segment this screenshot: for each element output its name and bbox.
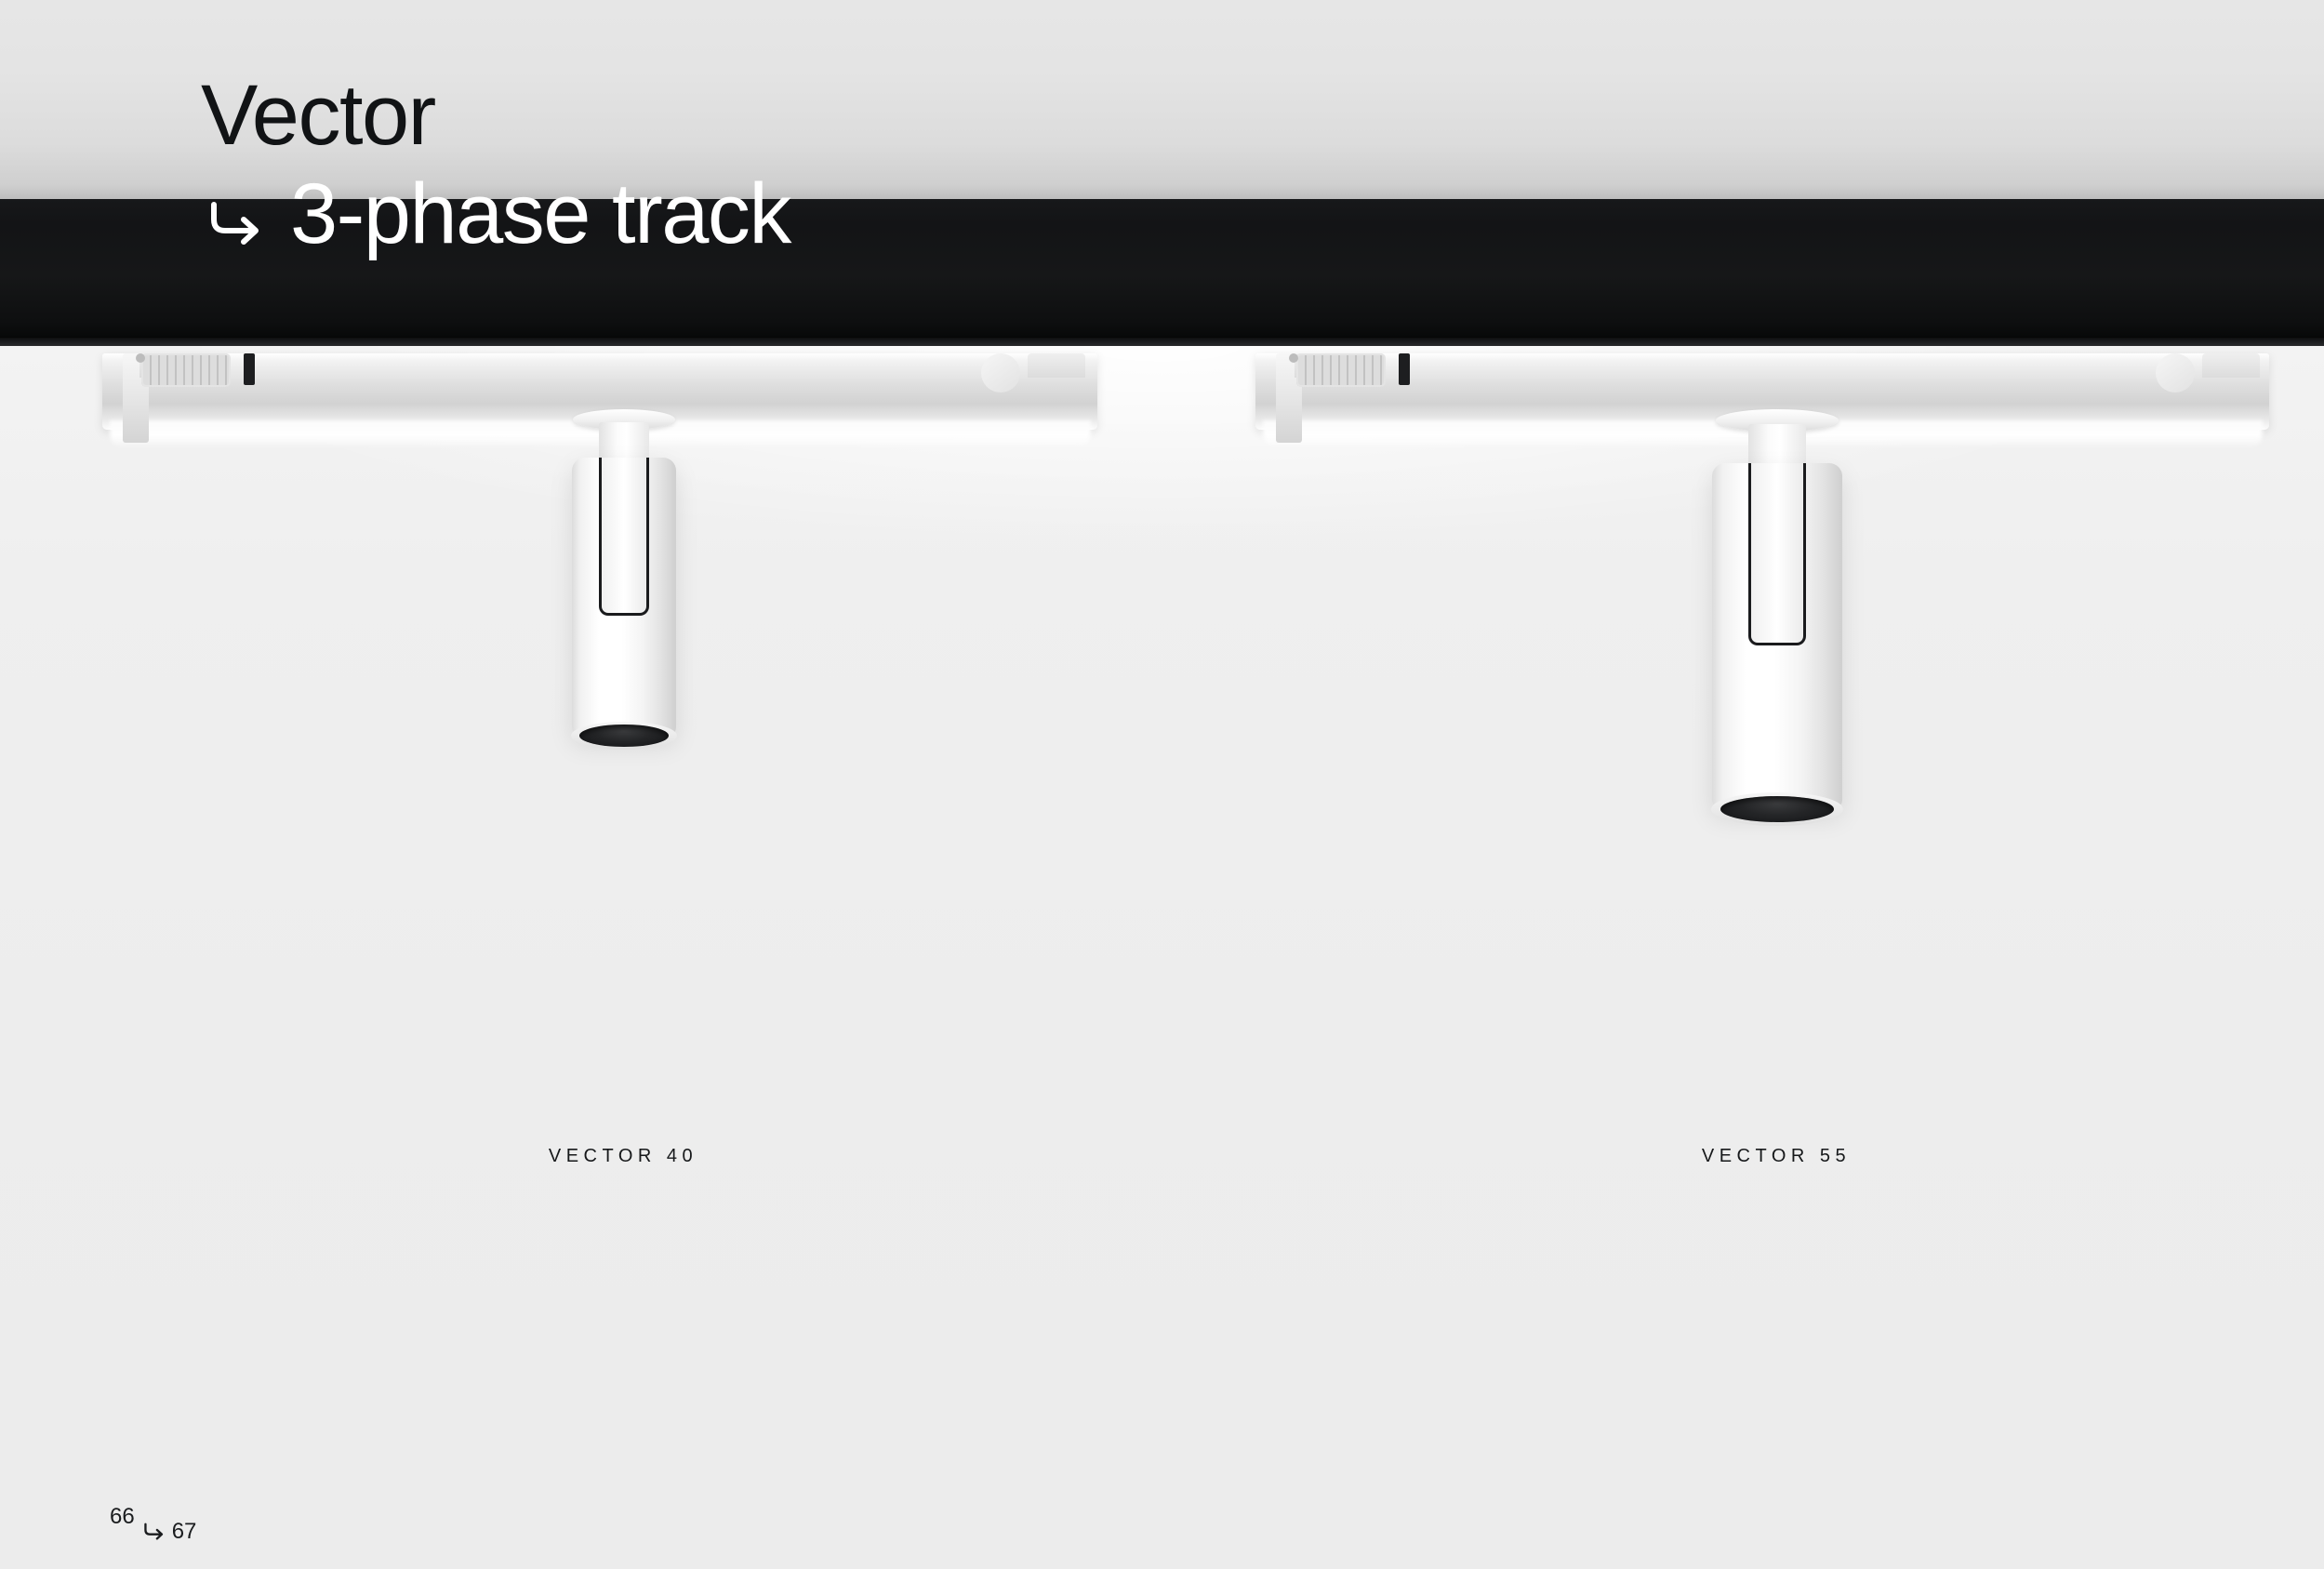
catalog-page: Vector 3-phase track VECTOR 40 VECTOR 55… — [0, 0, 2324, 1569]
folio-left-page-number: 66 — [110, 1506, 135, 1528]
page-subtitle: 3-phase track — [290, 171, 790, 259]
track-adapter-notch — [1399, 353, 1410, 385]
track-rail-mount-tab-right — [2202, 353, 2260, 378]
track-rail-screw — [1289, 353, 1298, 363]
page-title: Vector — [201, 73, 790, 160]
product-caption-vector-40: VECTOR 40 — [549, 1146, 697, 1167]
page-subtitle-row: 3-phase track — [201, 171, 790, 259]
track-adapter-grid — [1296, 353, 1386, 387]
spotlight-vector-55 — [1776, 409, 1777, 1079]
hook-arrow-right-icon — [140, 1517, 166, 1543]
page-title-block: Vector 3-phase track — [201, 73, 790, 259]
spotlight-aperture — [1720, 796, 1834, 822]
hook-arrow-right-icon — [201, 181, 268, 248]
page-folio: 66 67 — [110, 1517, 196, 1543]
track-rail-end-circle — [2156, 353, 2195, 392]
product-caption-vector-55: VECTOR 55 — [1702, 1146, 1851, 1167]
folio-right-page-number: 67 — [172, 1521, 197, 1543]
spotlight-adjustment-slot — [1748, 463, 1806, 645]
